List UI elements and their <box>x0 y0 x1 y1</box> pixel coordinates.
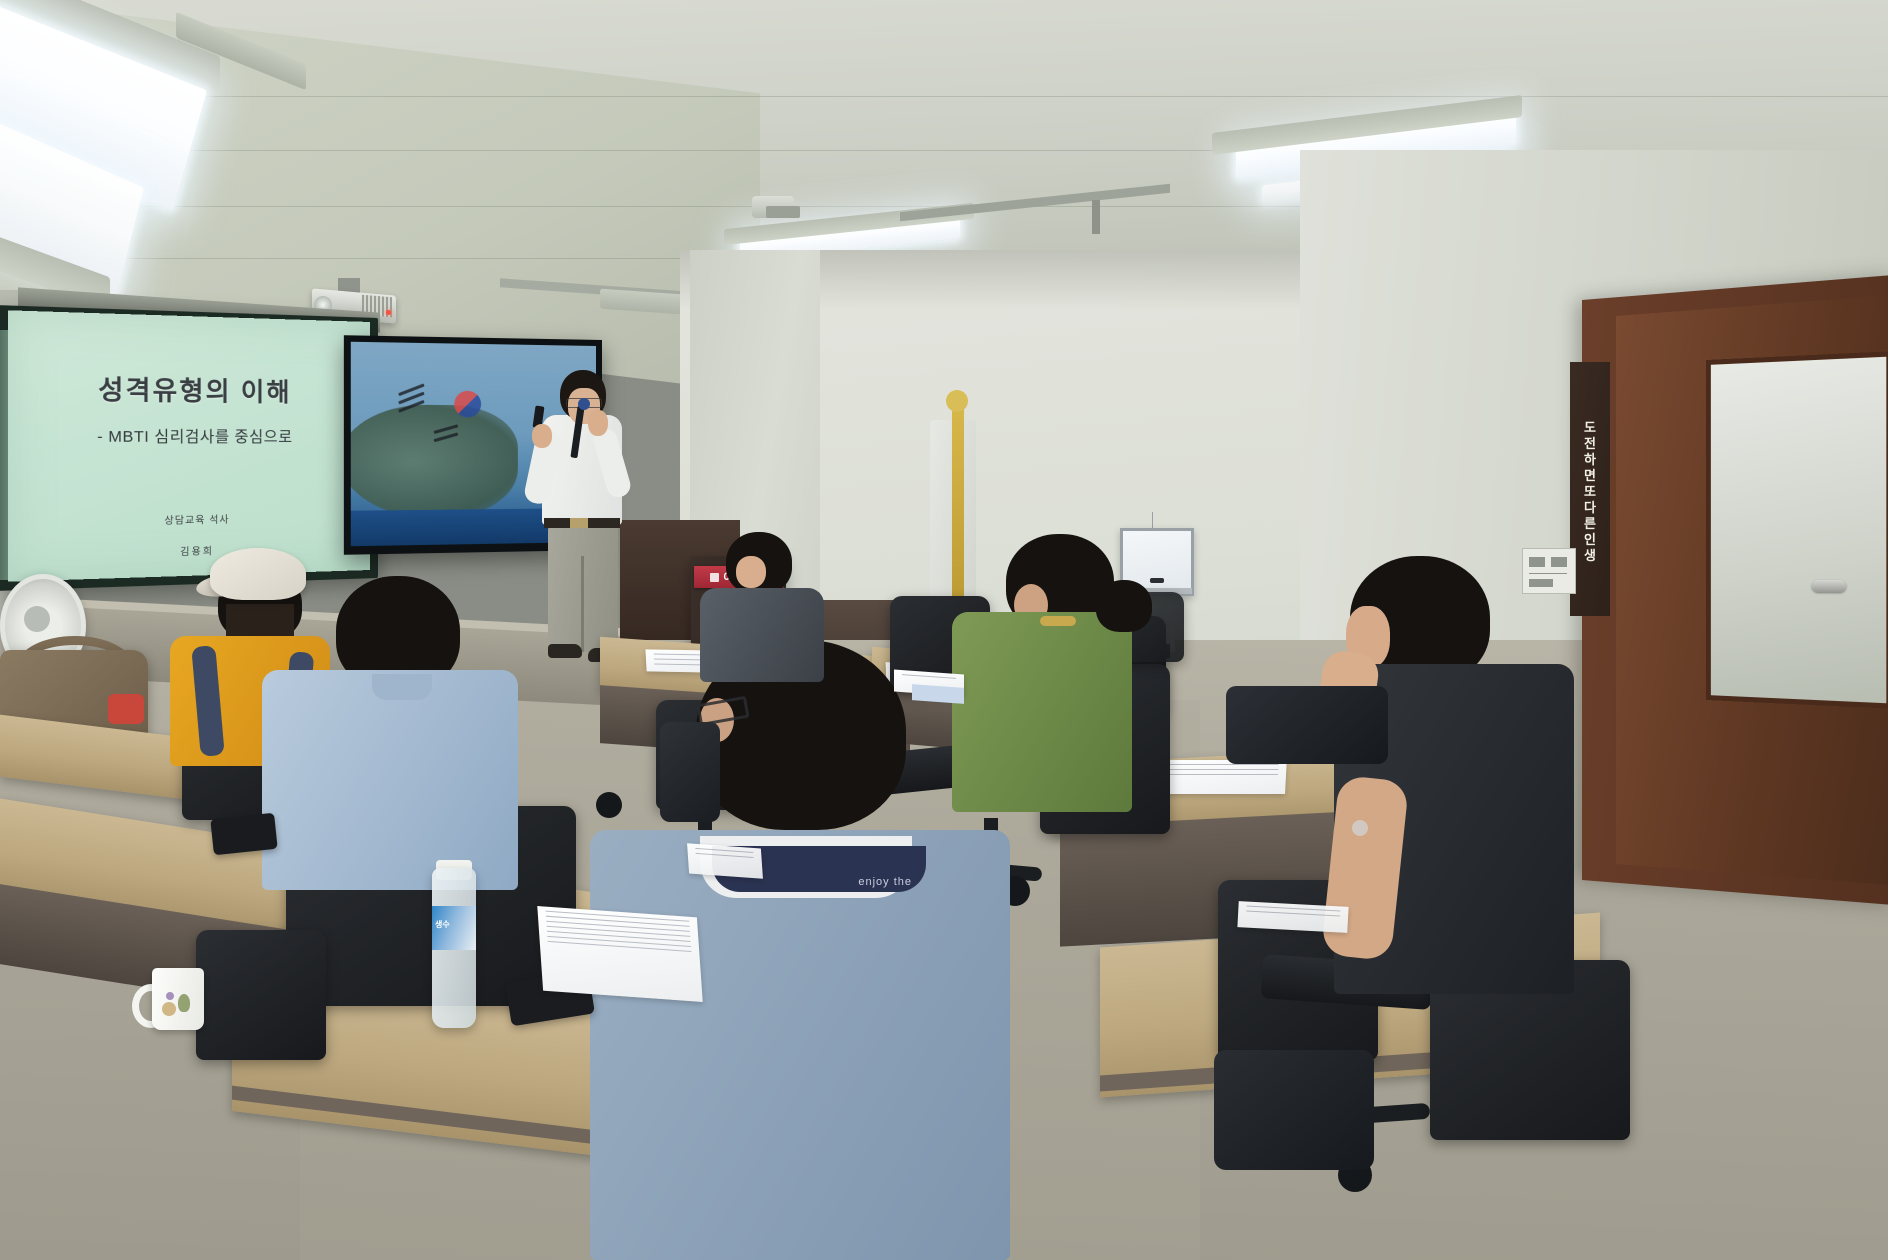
fan-hub <box>24 606 50 632</box>
necklace <box>1040 616 1076 626</box>
motto-char: 면 <box>1584 469 1596 482</box>
motto-char: 도 <box>1584 421 1596 434</box>
chair-caster <box>596 792 622 818</box>
motto-char: 인 <box>1584 533 1596 546</box>
attendee-far-back-head <box>1096 580 1152 632</box>
slide-subtitle: - MBTI 심리검사를 중심으로 <box>97 425 292 447</box>
ceiling-track-hanger <box>1092 200 1100 234</box>
motto-char: 또 <box>1584 485 1596 498</box>
shirt-collar <box>372 674 432 700</box>
smartphone-on-desk[interactable] <box>210 813 277 855</box>
door-handle[interactable] <box>1812 580 1846 592</box>
attendee-back-left-body <box>700 588 824 682</box>
attendee-blue-body <box>262 670 518 890</box>
lanyard-text: enjoy the <box>858 876 912 888</box>
lecture-room-photo: 성격유형의 이해 - MBTI 심리검사를 중심으로 상담교육 석사 김용희 이… <box>0 0 1888 1260</box>
motto-char: 다 <box>1584 501 1596 514</box>
microphone-head <box>578 398 590 410</box>
projector-power-led <box>386 310 391 315</box>
motto-char: 전 <box>1584 437 1596 450</box>
worksheet-foreground <box>537 906 702 1002</box>
slide-credential: 상담교육 석사 <box>164 511 229 527</box>
draped-jacket <box>1226 686 1388 764</box>
door-window <box>1706 351 1888 708</box>
korean-flag-taegeuk <box>454 391 481 418</box>
projection-screen: 성격유형의 이해 - MBTI 심리검사를 중심으로 상담교육 석사 김용희 <box>8 310 370 581</box>
flag-pole-finial <box>946 390 968 412</box>
door-motto-strip: 도 전 하 면 또 다 른 인 생 <box>1570 362 1610 616</box>
attendee-green-body <box>952 612 1132 812</box>
attendee-back-left-face <box>736 556 766 588</box>
presenter-leg-seam <box>581 556 584 652</box>
motto-char: 른 <box>1584 517 1596 530</box>
slide-presenter-name: 김용희 <box>180 543 214 559</box>
shirt-logo <box>1352 820 1368 836</box>
slide-title: 성격유형의 이해 <box>98 369 291 409</box>
university-logo-icon <box>710 573 719 582</box>
worksheet <box>1151 760 1287 794</box>
whiteboard-marker <box>1150 578 1164 583</box>
bottle-label-text: 생수 <box>435 919 450 930</box>
mug-floral-art <box>160 990 198 1022</box>
smoke-detector-body <box>766 206 800 218</box>
white-cap <box>210 548 306 600</box>
bag-on-chair <box>1214 1050 1374 1170</box>
presenter-belt-buckle <box>570 518 588 528</box>
presenter-hand-right <box>588 410 608 436</box>
motto-char: 하 <box>1584 453 1596 466</box>
worksheet <box>687 843 763 878</box>
island-photo <box>351 404 518 519</box>
wall-schematic-plate <box>1522 548 1576 594</box>
presenter-shoe-left <box>548 644 582 658</box>
presenter-hand-left <box>532 424 552 448</box>
motto-char: 생 <box>1584 549 1596 562</box>
bag-on-chair <box>660 722 720 822</box>
ceiling-seam <box>0 96 1888 97</box>
bag-accessory <box>108 694 144 724</box>
chair[interactable] <box>196 930 326 1060</box>
bottle-label: 생수 <box>432 906 476 950</box>
